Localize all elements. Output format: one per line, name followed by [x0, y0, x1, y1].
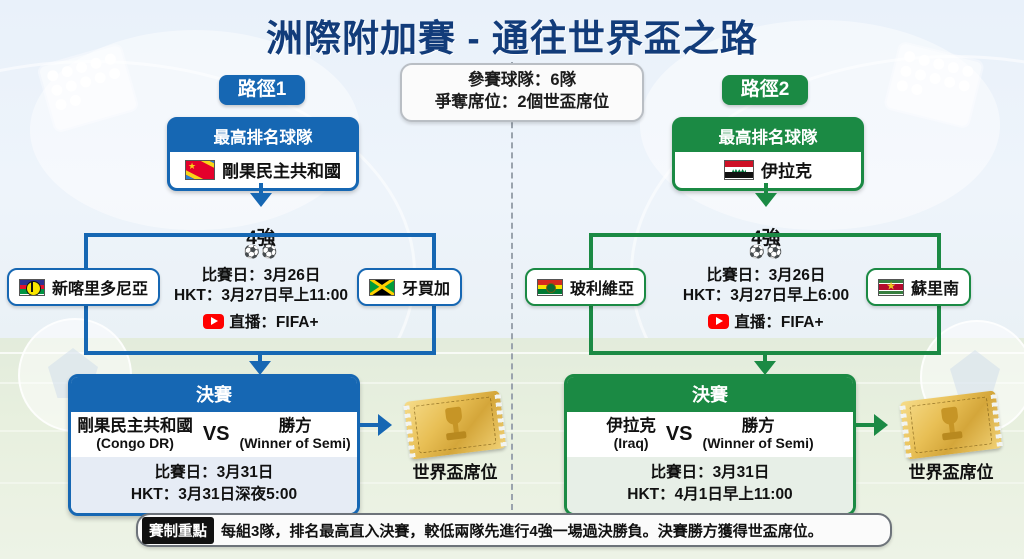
semi-team-left-2: 玻利維亞	[525, 268, 646, 306]
semi-broadcast-2: 直播：FIFA+	[666, 310, 866, 332]
top-seed-team-1: 剛果民主共和國	[222, 157, 341, 182]
suriname-flag: ★	[878, 279, 904, 296]
final-date-2: 比賽日：3月31日	[571, 462, 849, 484]
youtube-icon	[708, 314, 729, 329]
semi-broadcast-label-1: 直播：FIFA+	[229, 310, 318, 332]
youtube-icon	[203, 314, 224, 329]
semi-team-left-name-2: 玻利維亞	[570, 275, 634, 299]
tournament-info-box: 參賽球隊：6隊 爭奪席位：2個世盃席位	[400, 63, 644, 122]
top-seed-header-2: 最高排名球隊	[675, 120, 861, 152]
world-cup-ticket-icon	[404, 390, 506, 459]
final-card-1: 決賽 剛果民主共和國 (Congo DR) VS 勝方 (Winner of S…	[68, 374, 360, 516]
top-seed-card-2: 最高排名球隊 伊拉克	[672, 117, 864, 191]
trophy-icon	[938, 406, 964, 442]
bracket-arrow-down	[249, 361, 271, 375]
infographic-root: 洲際附加賽 - 通往世界盃之路 參賽球隊：6隊 爭奪席位：2個世盃席位 路徑1 …	[0, 0, 1024, 559]
final-left-team-1: 剛果民主共和國 (Congo DR)	[77, 417, 193, 451]
semi-team-right-name-2: 蘇里南	[911, 275, 959, 299]
final-date-1: 比賽日：3月31日	[75, 462, 353, 484]
trophy-icon	[442, 406, 468, 442]
world-cup-ticket-icon	[900, 390, 1002, 459]
semi-balls-1: ⚽⚽	[211, 244, 311, 260]
prize-label-2: 世界盃席位	[886, 458, 1016, 483]
semi-team-right-1: 牙買加	[357, 268, 462, 306]
prize-label-1: 世界盃席位	[390, 458, 520, 483]
top-seed-header-1: 最高排名球隊	[170, 120, 356, 152]
bracket-arrow-down	[250, 193, 272, 207]
bracket-arrow-down	[755, 193, 777, 207]
final-left-en-1: (Congo DR)	[77, 435, 193, 451]
jamaica-flag	[369, 279, 395, 296]
bracket-line	[84, 233, 436, 237]
semi-team-left-1: 新喀里多尼亞	[7, 268, 160, 306]
final-right-zh-1: 勝方	[240, 417, 351, 435]
semi-team-left-name-1: 新喀里多尼亞	[52, 275, 148, 299]
semi-hkt-2: HKT：3月27日早上6:00	[656, 285, 876, 307]
bracket-line	[358, 423, 380, 427]
semi-date-2: 比賽日：3月26日	[666, 265, 866, 287]
info-teams-count: 參賽球隊：6隊	[408, 70, 636, 92]
final-right-zh-2: 勝方	[703, 417, 814, 435]
new-caledonia-flag	[19, 279, 45, 296]
final-right-team-2: 勝方 (Winner of Semi)	[703, 417, 814, 451]
bracket-arrow-down	[754, 361, 776, 375]
iraq-flag	[724, 160, 754, 180]
semi-broadcast-label-2: 直播：FIFA+	[734, 310, 823, 332]
final-left-team-2: 伊拉克 (Iraq)	[606, 417, 656, 451]
path-badge-2: 路徑2	[722, 75, 808, 105]
bracket-line	[854, 423, 876, 427]
final-right-en-2: (Winner of Semi)	[703, 435, 814, 451]
final-right-team-1: 勝方 (Winner of Semi)	[240, 417, 351, 451]
semi-team-right-name-1: 牙買加	[402, 275, 450, 299]
prize-1: 世界盃席位	[390, 396, 520, 483]
footer-tag: 賽制重點	[142, 517, 214, 544]
final-vs-1: VS	[203, 423, 230, 446]
info-slots-count: 爭奪席位：2個世盃席位	[408, 92, 636, 114]
final-header-2: 決賽	[567, 377, 853, 412]
final-left-en-2: (Iraq)	[606, 435, 656, 451]
final-vs-2: VS	[666, 423, 693, 446]
final-left-zh-1: 剛果民主共和國	[77, 417, 193, 435]
bracket-line	[589, 233, 941, 237]
congo-dr-flag: ★	[185, 160, 215, 180]
semi-balls-2: ⚽⚽	[716, 244, 816, 260]
semi-hkt-1: HKT：3月27日早上11:00	[151, 285, 371, 307]
final-left-zh-2: 伊拉克	[606, 417, 656, 435]
top-seed-team-2: 伊拉克	[761, 157, 812, 182]
path-badge-1: 路徑1	[219, 75, 305, 105]
bolivia-flag	[537, 279, 563, 296]
page-title: 洲際附加賽 - 通往世界盃之路	[0, 8, 1024, 62]
footer-note: 賽制重點 每組3隊，排名最高直入決賽，較低兩隊先進行4強一場過決勝負。決賽勝方獲…	[136, 513, 892, 547]
semi-team-right-2: ★ 蘇里南	[866, 268, 971, 306]
final-header-1: 決賽	[71, 377, 357, 412]
final-hkt-2: HKT：4月1日早上11:00	[571, 484, 849, 506]
final-right-en-1: (Winner of Semi)	[240, 435, 351, 451]
prize-2: 世界盃席位	[886, 396, 1016, 483]
semi-date-1: 比賽日：3月26日	[161, 265, 361, 287]
final-hkt-1: HKT：3月31日深夜5:00	[75, 484, 353, 506]
footer-text: 每組3隊，排名最高直入決賽，較低兩隊先進行4強一場過決勝負。決賽勝方獲得世盃席位…	[221, 520, 823, 541]
semi-broadcast-1: 直播：FIFA+	[161, 310, 361, 332]
top-seed-card-1: 最高排名球隊 ★ 剛果民主共和國	[167, 117, 359, 191]
final-card-2: 決賽 伊拉克 (Iraq) VS 勝方 (Winner of Semi) 比賽日…	[564, 374, 856, 516]
